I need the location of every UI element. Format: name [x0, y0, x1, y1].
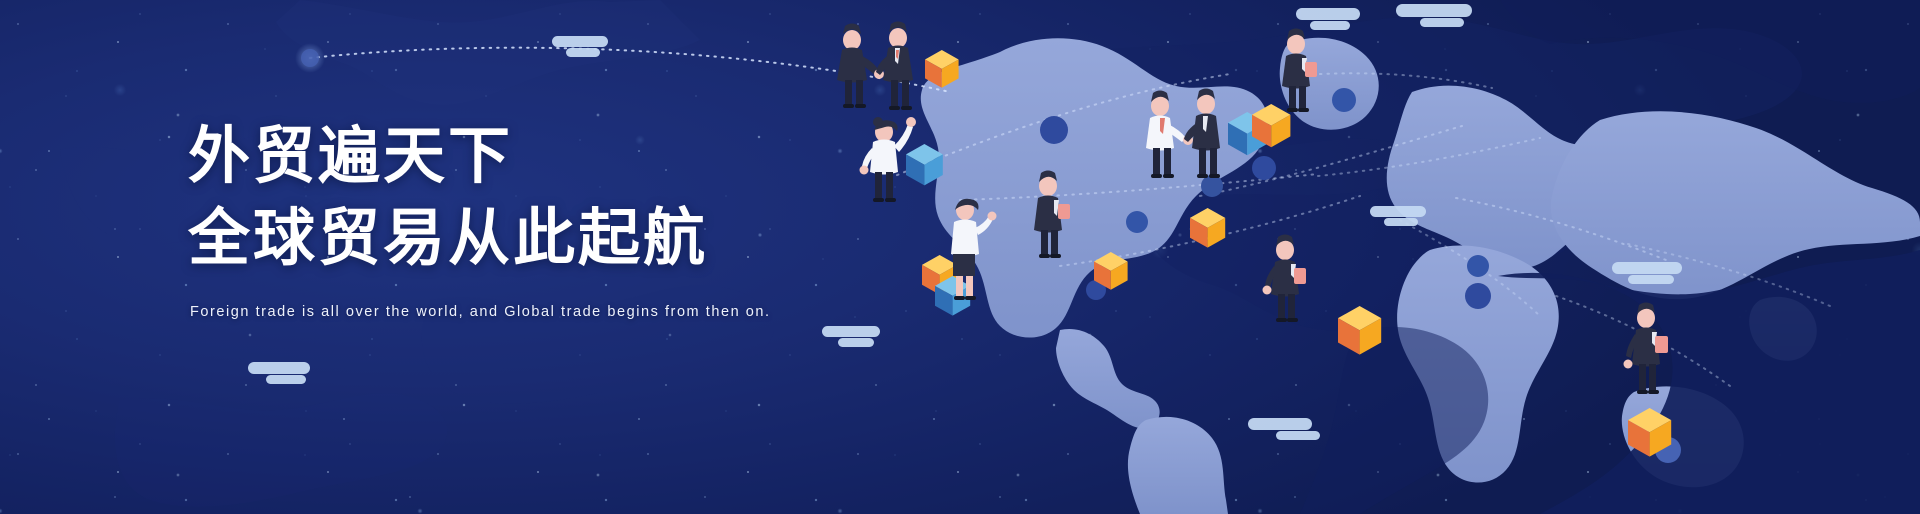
business-figure-handshake-right	[876, 22, 913, 111]
cloud-icon-8	[248, 362, 310, 384]
banner-copy: 外贸遍天下 全球贸易从此起航 Foreign trade is all over…	[188, 118, 948, 320]
banner-subtitle: Foreign trade is all over the world, and…	[190, 304, 948, 320]
location-node-africa	[1465, 283, 1491, 309]
location-node-north-america	[1040, 116, 1068, 144]
headline-line-1: 外贸遍天下	[188, 118, 948, 196]
location-node-greenland	[1332, 88, 1356, 112]
location-node-mediterranean	[1467, 255, 1489, 277]
location-node-origin	[301, 49, 319, 67]
location-node-europe-west	[1201, 175, 1223, 197]
cloud-icon-5	[1248, 418, 1320, 440]
location-node-central-america	[1126, 211, 1148, 233]
headline-line-2: 全球贸易从此起航	[188, 200, 948, 278]
cloud-icon-1	[552, 36, 608, 57]
business-figure-handshake-left	[837, 24, 884, 109]
cloud-icon-7	[822, 326, 880, 347]
location-node-atlantic	[1252, 156, 1276, 180]
trade-banner: 外贸遍天下 全球贸易从此起航 Foreign trade is all over…	[0, 0, 1920, 514]
